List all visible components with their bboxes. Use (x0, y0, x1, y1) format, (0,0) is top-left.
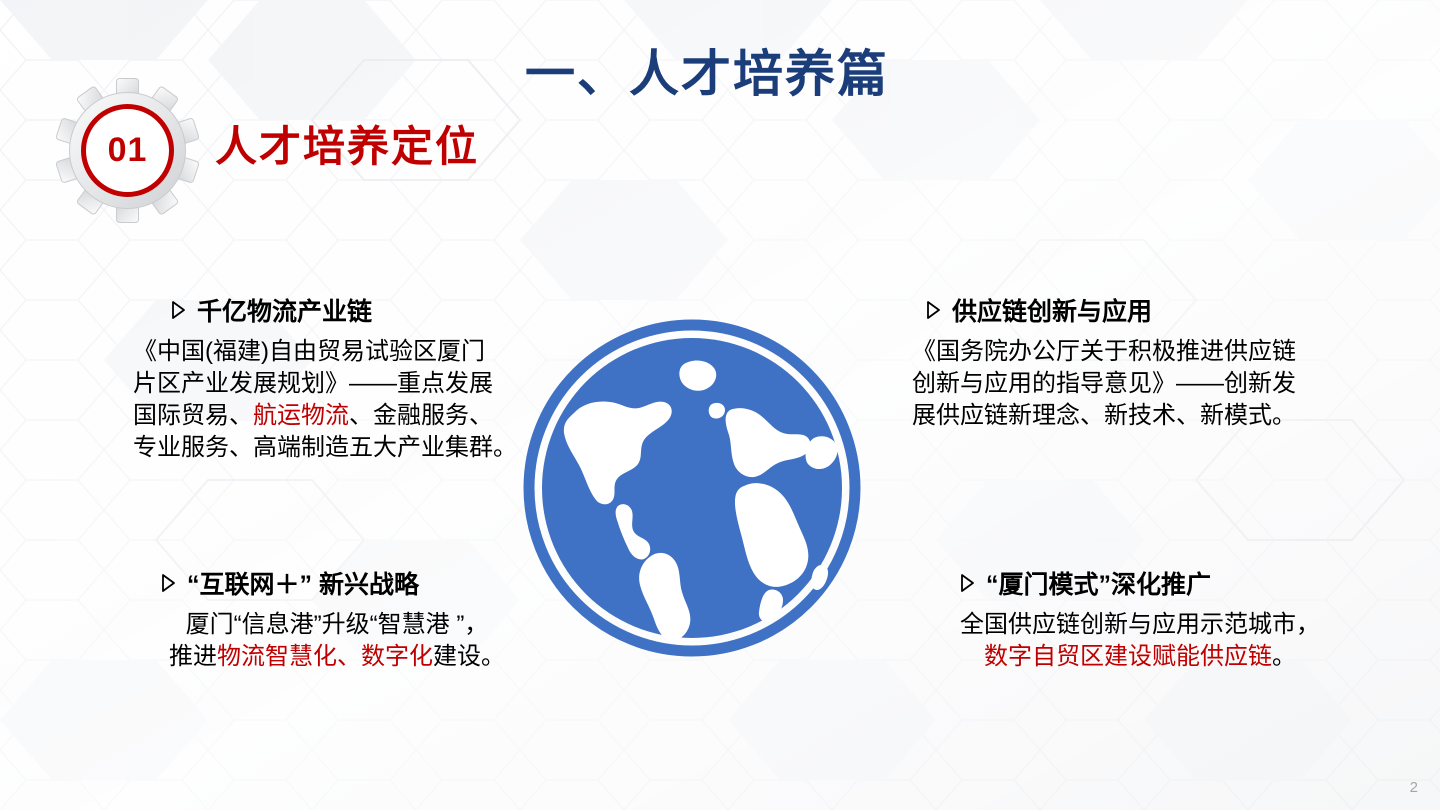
block-heading: “互联网＋” 新兴战略 (161, 565, 537, 601)
block-heading: 千亿物流产业链 (171, 292, 533, 328)
text-run: 。 (1272, 643, 1296, 670)
text-run: 专业服务、高端制造五大产业集群。 (133, 434, 517, 461)
block-heading-text: 供应链创新与应用 (952, 292, 1152, 328)
text-run: 展供应链新理念、新技术、新模式。 (912, 402, 1296, 429)
text-run: 、金融服务、 (349, 402, 493, 429)
block-body-line: 国际贸易、航运物流、金融服务、 (133, 400, 533, 432)
block-heading-text: “互联网＋” 新兴战略 (187, 565, 419, 601)
text-run: 国际贸易、 (133, 402, 253, 429)
block-body-line: 专业服务、高端制造五大产业集群。 (133, 432, 533, 464)
block-body-line: 《中国(福建)自由贸易试验区厦门 (133, 336, 533, 368)
block-body-line: 展供应链新理念、新技术、新模式。 (912, 400, 1332, 432)
block-body-line: 推进物流智慧化、数字化建设。 (137, 641, 537, 673)
block-body-line: 创新与应用的指导意见》——创新发 (912, 368, 1332, 400)
arrow-bullet-icon (171, 300, 187, 320)
block-body-line: 片区产业发展规划》——重点发展 (133, 368, 533, 400)
block-heading-text: 千亿物流产业链 (197, 292, 372, 328)
block-heading: “厦门模式”深化推广 (960, 565, 1340, 601)
block-body: 《中国(福建)自由贸易试验区厦门片区产业发展规划》——重点发展国际贸易、航运物流… (133, 336, 533, 464)
text-run: 创新与应用的指导意见》——创新发 (912, 370, 1296, 397)
page-number: 2 (1410, 779, 1418, 796)
arrow-bullet-icon (161, 573, 177, 593)
text-run: 推进 (169, 643, 217, 670)
block-xiamen-model: “厦门模式”深化推广 全国供应链创新与应用示范城市，数字自贸区建设赋能供应链。 (940, 565, 1340, 673)
block-heading-text: “厦门模式”深化推广 (986, 565, 1211, 601)
text-run: 数字自贸区建设赋能供应链 (984, 643, 1272, 670)
block-body-line: 数字自贸区建设赋能供应链。 (940, 641, 1340, 673)
block-heading: 供应链创新与应用 (926, 292, 1332, 328)
text-run: 厦门“信息港”升级“智慧港 ”， (186, 611, 489, 638)
gear-icon (55, 78, 200, 223)
arrow-bullet-icon (960, 573, 976, 593)
globe-icon (522, 318, 862, 658)
section-heading: 人才培养定位 (215, 113, 479, 174)
text-run: 《中国(福建)自由贸易试验区厦门 (133, 338, 485, 365)
block-body-line: 厦门“信息港”升级“智慧港 ”， (137, 609, 537, 641)
text-run: 片区产业发展规划》——重点发展 (133, 370, 493, 397)
slide-canvas: 一、人才培养篇 (0, 0, 1440, 810)
text-run: 物流智慧化、数字化 (217, 643, 433, 670)
page-title: 一、人才培养篇 (525, 34, 889, 106)
block-body-line: 全国供应链创新与应用示范城市， (940, 609, 1340, 641)
block-body: 厦门“信息港”升级“智慧港 ”，推进物流智慧化、数字化建设。 (137, 609, 537, 673)
text-run: 《国务院办公厅关于积极推进供应链 (912, 338, 1296, 365)
block-body: 《国务院办公厅关于积极推进供应链创新与应用的指导意见》——创新发展供应链新理念、… (912, 336, 1332, 432)
arrow-bullet-icon (926, 300, 942, 320)
block-body: 全国供应链创新与应用示范城市，数字自贸区建设赋能供应链。 (940, 609, 1340, 673)
block-internet-plus: “互联网＋” 新兴战略 厦门“信息港”升级“智慧港 ”，推进物流智慧化、数字化建… (137, 565, 537, 673)
text-run: 建设。 (433, 643, 505, 670)
block-supply-chain-innovation: 供应链创新与应用 《国务院办公厅关于积极推进供应链创新与应用的指导意见》——创新… (912, 292, 1332, 432)
text-run: 航运物流 (253, 402, 349, 429)
block-logistics-chain: 千亿物流产业链 《中国(福建)自由贸易试验区厦门片区产业发展规划》——重点发展国… (133, 292, 533, 464)
gear-badge: 01 (55, 78, 200, 223)
text-run: 全国供应链创新与应用示范城市， (960, 611, 1320, 638)
block-body-line: 《国务院办公厅关于积极推进供应链 (912, 336, 1332, 368)
